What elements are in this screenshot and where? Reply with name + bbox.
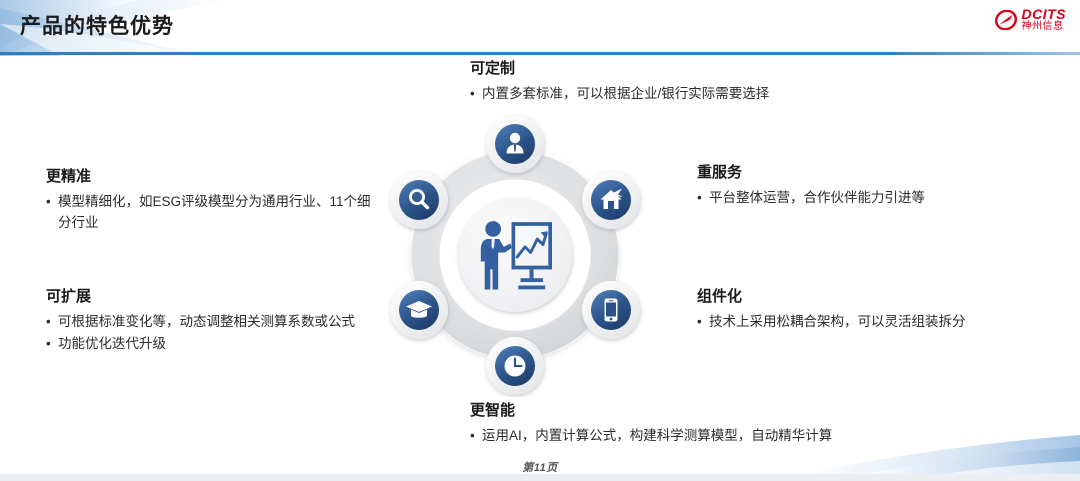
diagram-node-lower-right[interactable]: [582, 281, 640, 339]
feature-bullet: • 内置多套标准，可以根据企业/银行实际需要选择: [470, 84, 940, 105]
diagram-node-top[interactable]: [486, 115, 544, 173]
bullet-marker-icon: •: [697, 312, 709, 333]
feature-title: 重服务: [697, 164, 1027, 182]
bullet-marker-icon: •: [46, 192, 58, 234]
mobile-phone-icon: [605, 299, 618, 322]
slide-header: 产品的特色优势: [0, 0, 1080, 56]
diagram-node-upper-left[interactable]: [390, 171, 448, 229]
feature-title: 组件化: [697, 288, 1027, 306]
page-title: 产品的特色优势: [20, 10, 174, 40]
feature-bullet: • 平台整体运营，合作伙伴能力引进等: [697, 188, 1027, 209]
feature-bullet: • 功能优化迭代升级: [46, 334, 376, 355]
brand-logo: DCITS 神州信息: [995, 7, 1067, 32]
feature-title: 可定制: [470, 60, 940, 78]
footer-strip: [0, 474, 1080, 481]
feature-block-zhongfuwu: 重服务 • 平台整体运营，合作伙伴能力引进等: [697, 164, 1027, 210]
feature-bullet: • 技术上采用松耦合架构，可以灵活组装拆分: [697, 312, 1027, 333]
header-divider: [0, 52, 1080, 55]
diagram-node-lower-left[interactable]: [390, 281, 448, 339]
feature-bullet-text: 平台整体运营，合作伙伴能力引进等: [709, 188, 1027, 209]
feature-hub-diagram: [375, 112, 655, 397]
bullet-marker-icon: •: [46, 334, 58, 355]
feature-bullet-text: 技术上采用松耦合架构，可以灵活组装拆分: [709, 312, 1027, 333]
logo-text-en: DCITS: [1022, 7, 1067, 21]
logo-text-cn: 神州信息: [1022, 22, 1067, 32]
feature-title: 更智能: [470, 402, 960, 420]
bullet-marker-icon: •: [470, 426, 482, 447]
feature-title: 可扩展: [46, 288, 376, 306]
feature-bullet-text: 模型精细化，如ESG评级模型分为通用行业、11个细分行业: [58, 192, 376, 234]
slide: 产品的特色优势 DCITS 神州信息 可定制 • 内置多套标准，可以根据企业/银…: [0, 0, 1080, 481]
feature-block-kedingzhi: 可定制 • 内置多套标准，可以根据企业/银行实际需要选择: [470, 60, 940, 106]
dcits-swirl-icon: [995, 10, 1017, 30]
clock-icon: [505, 356, 526, 377]
feature-bullet-text: 功能优化迭代升级: [58, 334, 376, 355]
feature-bullet: • 模型精细化，如ESG评级模型分为通用行业、11个细分行业: [46, 192, 376, 234]
diagram-node-upper-right[interactable]: [582, 171, 640, 229]
feature-block-kekuozhan: 可扩展 • 可根据标准变化等，动态调整相关测算系数或公式 • 功能优化迭代升级: [46, 288, 376, 356]
logo-text: DCITS 神州信息: [1022, 7, 1067, 32]
bullet-marker-icon: •: [697, 188, 709, 209]
footer-swoosh-decoration: [780, 435, 1080, 475]
feature-block-gengjingzhun: 更精准 • 模型精细化，如ESG评级模型分为通用行业、11个细分行业: [46, 168, 376, 235]
feature-bullet: • 可根据标准变化等，动态调整相关测算系数或公式: [46, 312, 376, 333]
diagram-node-bottom[interactable]: [486, 337, 544, 395]
feature-bullet-text: 可根据标准变化等，动态调整相关测算系数或公式: [58, 312, 376, 333]
bullet-marker-icon: •: [470, 84, 482, 105]
diagram-center: [458, 198, 572, 312]
feature-bullet-text: 内置多套标准，可以根据企业/银行实际需要选择: [482, 84, 940, 105]
bullet-marker-icon: •: [46, 312, 58, 333]
feature-block-zujianhua: 组件化 • 技术上采用松耦合架构，可以灵活组装拆分: [697, 288, 1027, 334]
feature-title: 更精准: [46, 168, 376, 186]
